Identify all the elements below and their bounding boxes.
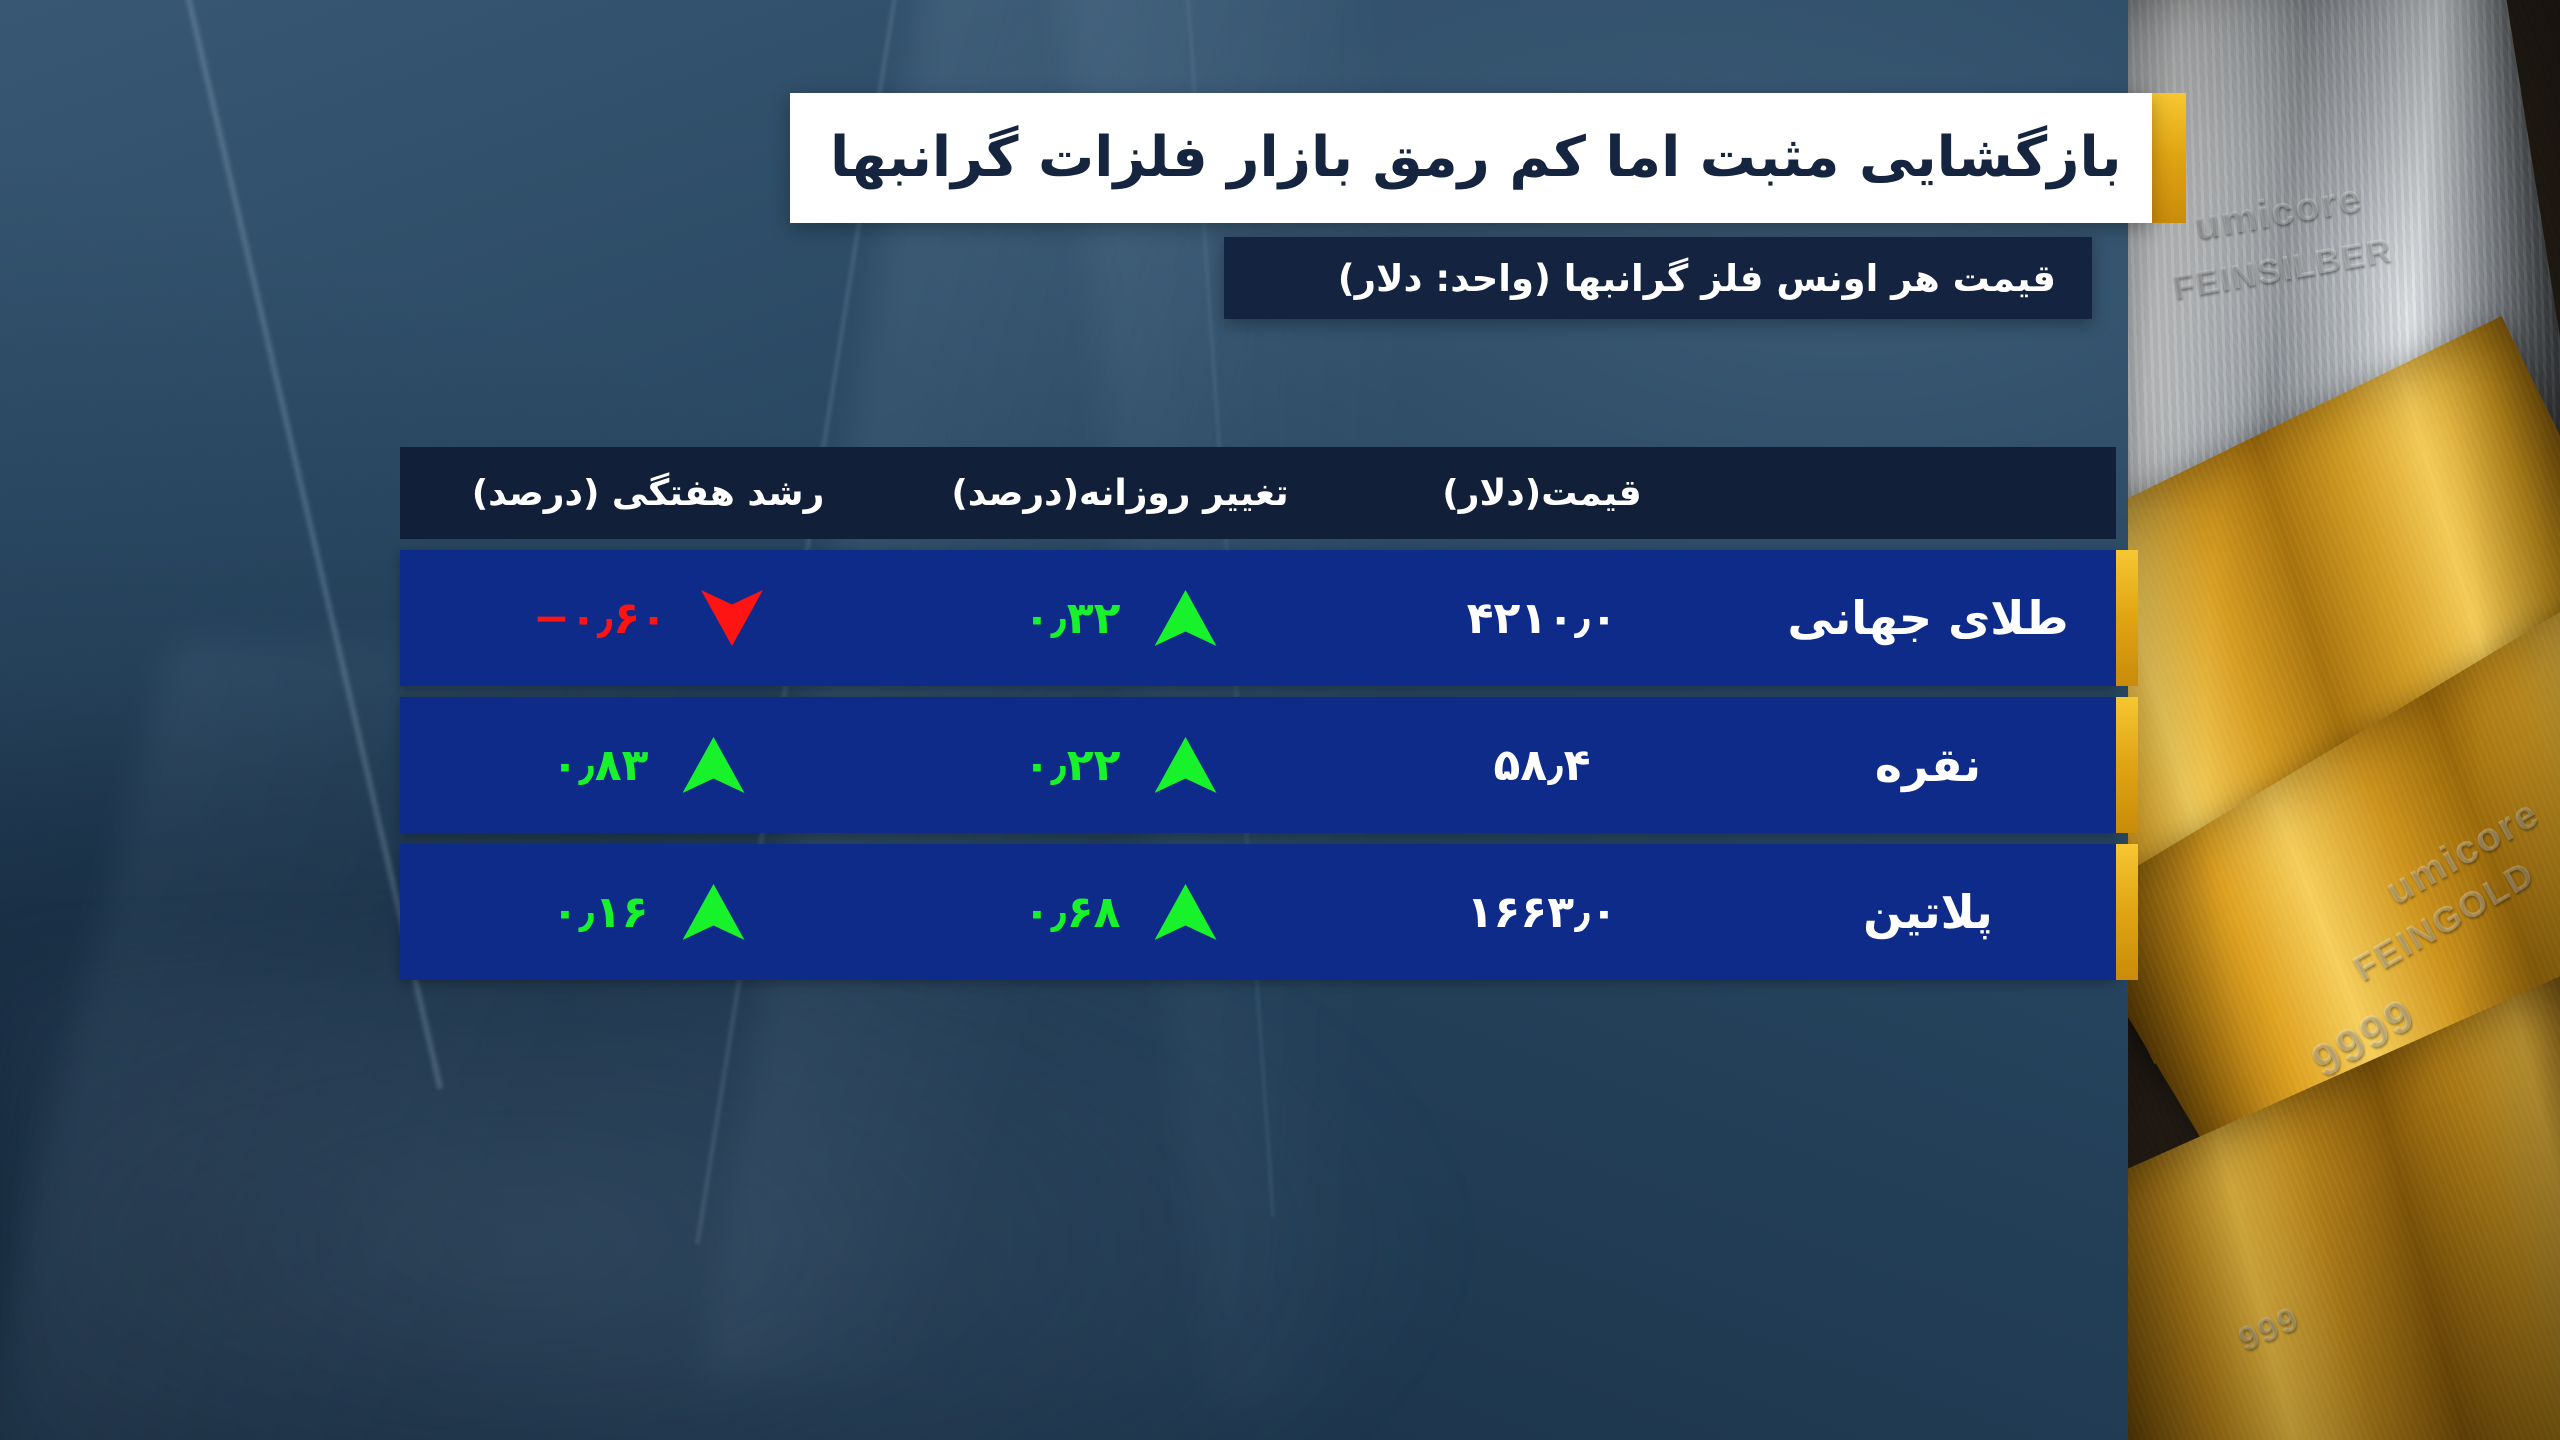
row-accent-tab (2116, 550, 2138, 686)
column-label-daily: تغییر روزانه(درصد) (951, 473, 1288, 514)
table-header-cell-daily-change: تغییر روزانه(درصد) (896, 447, 1344, 539)
price-text: ۵۸٫۴ (1494, 740, 1591, 791)
price-text: ۱۶۶۳٫۰ (1467, 887, 1618, 938)
cell-metal-name: طلای جهانی (1740, 550, 2116, 686)
price-text: ۴۲۱۰٫۰ (1467, 593, 1618, 644)
cell-metal-name: نقره (1740, 697, 2116, 833)
daily-change-text: ۰٫۶۸ (1024, 887, 1121, 938)
cell-price: ۵۸٫۴ (1344, 697, 1740, 833)
cell-daily-change: ۰٫۲۲ (896, 697, 1344, 833)
subtitle-text: قیمت هر اونس فلز گرانبها (واحد: دلار) (1338, 257, 2056, 300)
headline-text: بازگشایی مثبت اما کم رمق بازار فلزات گرا… (830, 130, 2122, 186)
cell-price: ۴۲۱۰٫۰ (1344, 550, 1740, 686)
weekly-growth-text: ۰٫۸۳ (552, 740, 649, 791)
arrow-up-icon (1155, 884, 1217, 940)
weekly-growth-text: ۰٫۱۶ (552, 887, 649, 938)
weekly-growth-text: −۰٫۶۰ (533, 593, 667, 644)
table-header-cell-price: قیمت(دلار) (1344, 447, 1740, 539)
headline: بازگشایی مثبت اما کم رمق بازار فلزات گرا… (790, 93, 2186, 223)
photo-vignette (2128, 0, 2560, 1440)
metal-name-text: نقره (1875, 738, 1981, 792)
cell-price: ۱۶۶۳٫۰ (1344, 844, 1740, 980)
metal-name-text: پلاتین (1863, 885, 1993, 939)
table-header-row: قیمت(دلار) تغییر روزانه(درصد) رشد هفتگی … (400, 447, 2116, 539)
metals-price-table: قیمت(دلار) تغییر روزانه(درصد) رشد هفتگی … (400, 447, 2116, 980)
headline-bar: بازگشایی مثبت اما کم رمق بازار فلزات گرا… (790, 93, 2152, 223)
bullion-photo: umicore FEINSILBER umicore FEINGOLD 9999… (2128, 0, 2560, 1440)
table-row: نقره ۵۸٫۴ ۰٫۲۲ ۰٫۸۳ (400, 697, 2116, 833)
column-label-weekly: رشد هفتگی (درصد) (472, 473, 825, 514)
cell-weekly-growth: ۰٫۱۶ (400, 844, 896, 980)
row-accent-tab (2116, 697, 2138, 833)
cell-metal-name: پلاتین (1740, 844, 2116, 980)
cell-daily-change: ۰٫۶۸ (896, 844, 1344, 980)
cell-weekly-growth: ۰٫۸۳ (400, 697, 896, 833)
daily-change-text: ۰٫۲۲ (1024, 740, 1121, 791)
arrow-up-icon (1155, 737, 1217, 793)
table-row: پلاتین ۱۶۶۳٫۰ ۰٫۶۸ ۰٫۱۶ (400, 844, 2116, 980)
table-header-cell-weekly-growth: رشد هفتگی (درصد) (400, 447, 896, 539)
arrow-up-icon (683, 884, 745, 940)
table-header-cell-name (1740, 447, 2116, 539)
subtitle-bar: قیمت هر اونس فلز گرانبها (واحد: دلار) (1224, 237, 2092, 319)
cell-weekly-growth: −۰٫۶۰ (400, 550, 896, 686)
arrow-up-icon (1155, 590, 1217, 646)
row-accent-tab (2116, 844, 2138, 980)
arrow-up-icon (683, 737, 745, 793)
table-row: طلای جهانی ۴۲۱۰٫۰ ۰٫۳۲ −۰٫۶۰ (400, 550, 2116, 686)
daily-change-text: ۰٫۳۲ (1024, 593, 1121, 644)
metal-name-text: طلای جهانی (1787, 591, 2068, 645)
arrow-down-icon (701, 590, 763, 646)
headline-accent-tab (2152, 93, 2186, 223)
cell-daily-change: ۰٫۳۲ (896, 550, 1344, 686)
background-glow (0, 960, 1500, 1440)
column-label-price: قیمت(دلار) (1442, 473, 1641, 514)
broadcast-graphic: umicore FEINSILBER umicore FEINGOLD 9999… (0, 0, 2560, 1440)
